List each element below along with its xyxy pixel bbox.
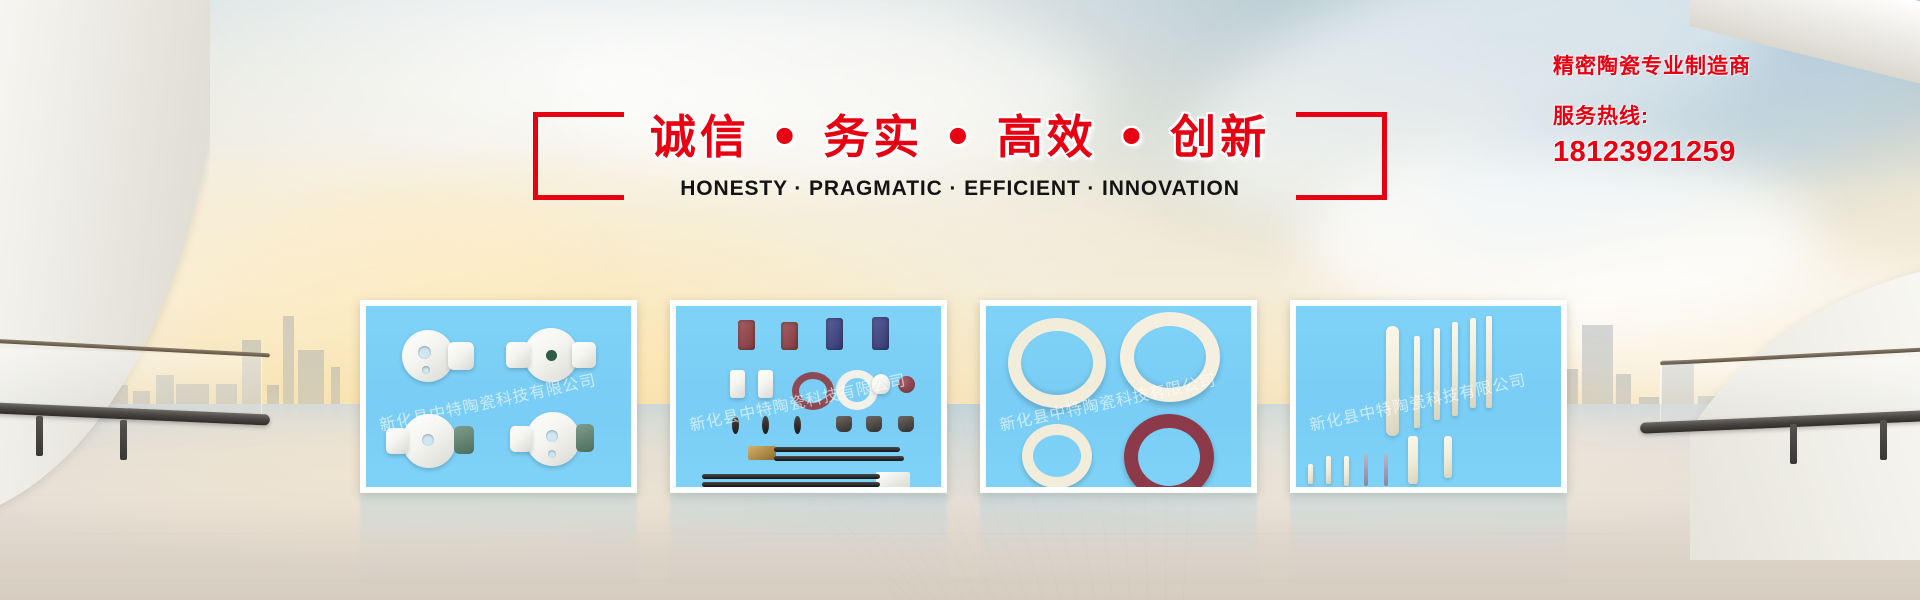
product-panel-ceramic-rods[interactable]: 新化县中特陶瓷科技有限公司 (1290, 300, 1567, 493)
product-contact-2 (762, 416, 769, 434)
product-ring-large-2 (1120, 312, 1220, 402)
product-socket-d-hole2 (548, 450, 556, 458)
product-clip-2 (866, 416, 882, 432)
product-socket-c-hole (422, 434, 434, 446)
product-ring-small (1022, 424, 1092, 487)
panel-2-image: 新化县中特陶瓷科技有限公司 (676, 306, 941, 487)
product-panel-ceramic-rings[interactable]: 新化县中特陶瓷科技有限公司 (980, 300, 1257, 493)
product-rod-mini-4 (1364, 454, 1368, 486)
product-wire-1a (774, 447, 900, 452)
product-sleeve-blue-1 (826, 318, 843, 350)
product-wire-2a (702, 474, 880, 479)
product-wire-2b (702, 482, 880, 487)
product-rod-2 (1434, 328, 1440, 420)
product-ring-large-1 (1008, 318, 1106, 408)
product-socket-d-connector (576, 424, 594, 452)
product-socket-d-wing-left (510, 426, 532, 452)
product-wire-1b (774, 456, 904, 461)
product-cap-white (872, 374, 890, 394)
product-plate-1 (730, 370, 745, 398)
product-sleeve-red-2 (781, 322, 798, 350)
product-rod-mini-1 (1308, 464, 1313, 484)
product-rod-mini-6 (1408, 436, 1418, 484)
product-socket-b-wing-right (572, 342, 596, 368)
product-contact-3 (794, 416, 801, 434)
product-clip-3 (898, 416, 914, 432)
company-tagline: 精密陶瓷专业制造商 (1553, 50, 1751, 80)
product-socket-b-contact (546, 350, 557, 361)
product-socket-d-hole1 (546, 430, 558, 442)
product-ring-maroon-large (1124, 414, 1214, 487)
panel-1-image: 新化县中特陶瓷科技有限公司 (366, 306, 631, 487)
product-socket-a-hole1 (418, 346, 431, 359)
product-rod-1 (1414, 336, 1420, 428)
product-rod-mini-7 (1444, 436, 1452, 478)
product-panel-components[interactable]: 新化县中特陶瓷科技有限公司 (670, 300, 947, 493)
product-ring-maroon (792, 372, 834, 410)
product-rod-5 (1486, 316, 1492, 408)
product-socket-a-tab (448, 342, 474, 370)
product-rod-thick (1386, 326, 1399, 436)
product-socket-c-connector (454, 426, 474, 454)
product-panel-row: 新化县中特陶瓷科技有限公司 (360, 300, 1567, 493)
product-rod-3 (1452, 322, 1458, 416)
panel-3-image: 新化县中特陶瓷科技有限公司 (986, 306, 1251, 487)
product-wire-terminal-1 (748, 446, 776, 460)
hotline-number[interactable]: 18123921259 (1553, 136, 1751, 169)
hero-banner: 诚信 • 务实 • 高效 • 创新 HONESTY · PRAGMATIC · … (0, 0, 1920, 600)
product-socket-c-wing-left (386, 428, 408, 454)
product-panel-ceramic-sockets[interactable]: 新化县中特陶瓷科技有限公司 (360, 300, 637, 493)
product-socket-a-hole2 (422, 366, 430, 374)
product-sleeve-blue-2 (872, 317, 889, 350)
product-rod-4 (1470, 318, 1476, 408)
product-ring-white (836, 370, 878, 410)
product-wire-terminal-2 (876, 472, 910, 487)
hotline-label: 服务热线: (1553, 100, 1751, 130)
product-disc-maroon (898, 376, 915, 393)
contact-block: 精密陶瓷专业制造商 服务热线: 18123921259 (1553, 50, 1751, 169)
product-rod-mini-2 (1326, 456, 1331, 484)
panel-4-image: 新化县中特陶瓷科技有限公司 (1296, 306, 1561, 487)
product-plate-2 (758, 370, 773, 398)
product-contact-1 (732, 416, 739, 434)
product-rod-mini-3 (1344, 456, 1349, 486)
product-rod-mini-5 (1384, 454, 1388, 486)
product-clip-1 (836, 416, 852, 432)
product-sleeve-red-1 (738, 320, 755, 350)
product-socket-b-wing-left (506, 342, 530, 368)
